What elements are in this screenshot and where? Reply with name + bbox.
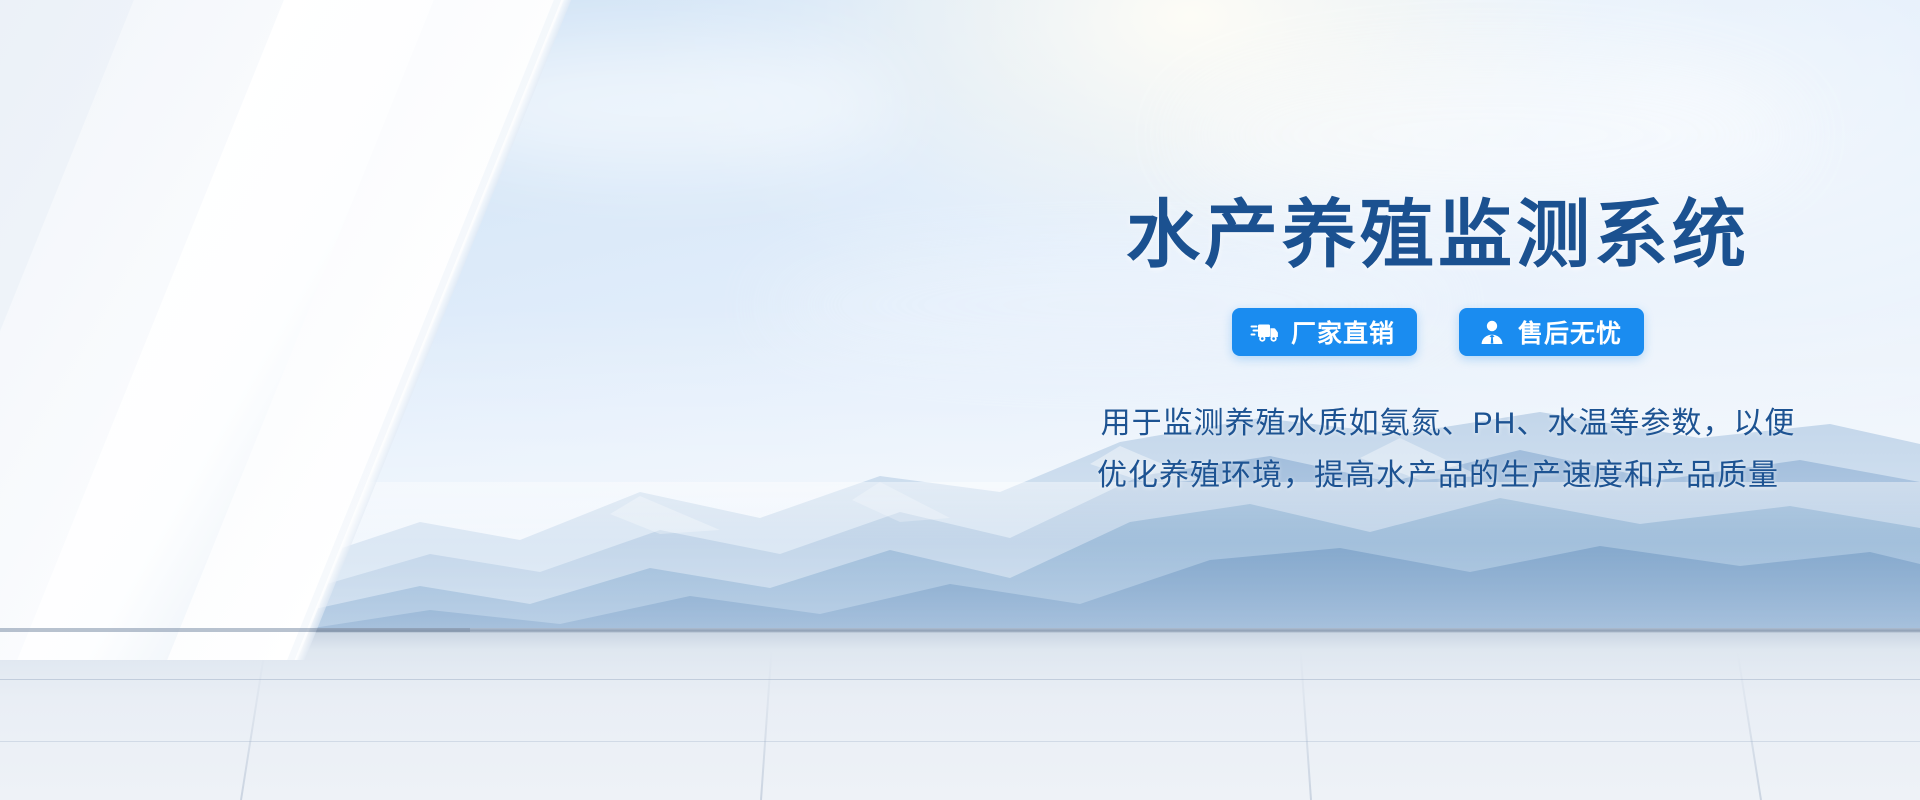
cloud-wisp-left-icon — [420, 40, 900, 170]
page-title: 水产养殖监测系统 — [1028, 196, 1848, 274]
ground-tile-seam — [1737, 652, 1762, 800]
description-line-2: 优化养殖环境，提高水产品的生产速度和产品质量 — [1028, 450, 1848, 502]
customer-service-person-icon — [1477, 317, 1507, 347]
badge-label: 厂家直销 — [1291, 314, 1395, 350]
cloud-wisp-right-icon — [1180, 60, 1800, 210]
ground-tile-seam — [760, 650, 772, 800]
plaza-ground — [0, 628, 1920, 800]
aquaculture-monitoring-banner: 水产养殖监测系统 — [0, 0, 1920, 800]
banner-description: 用于监测养殖水质如氨氮、PH、水温等参数，以便 优化养殖环境，提高水产品的生产速… — [1028, 398, 1848, 501]
ground-seam-line — [0, 741, 1920, 742]
banner-content: 水产养殖监测系统 — [1028, 196, 1848, 502]
ground-tile-seam — [1300, 650, 1312, 800]
description-line-1: 用于监测养殖水质如氨氮、PH、水温等参数，以便 — [1028, 398, 1848, 450]
badge-factory-direct-sales[interactable]: 厂家直销 — [1232, 308, 1417, 356]
badge-group: 厂家直销 售后无忧 — [1028, 308, 1848, 356]
delivery-truck-icon — [1250, 317, 1280, 347]
badge-after-sales-service[interactable]: 售后无忧 — [1459, 308, 1644, 356]
ground-tile-seam — [240, 652, 265, 800]
badge-label: 售后无忧 — [1518, 314, 1622, 350]
ground-seam-line — [0, 679, 1920, 680]
